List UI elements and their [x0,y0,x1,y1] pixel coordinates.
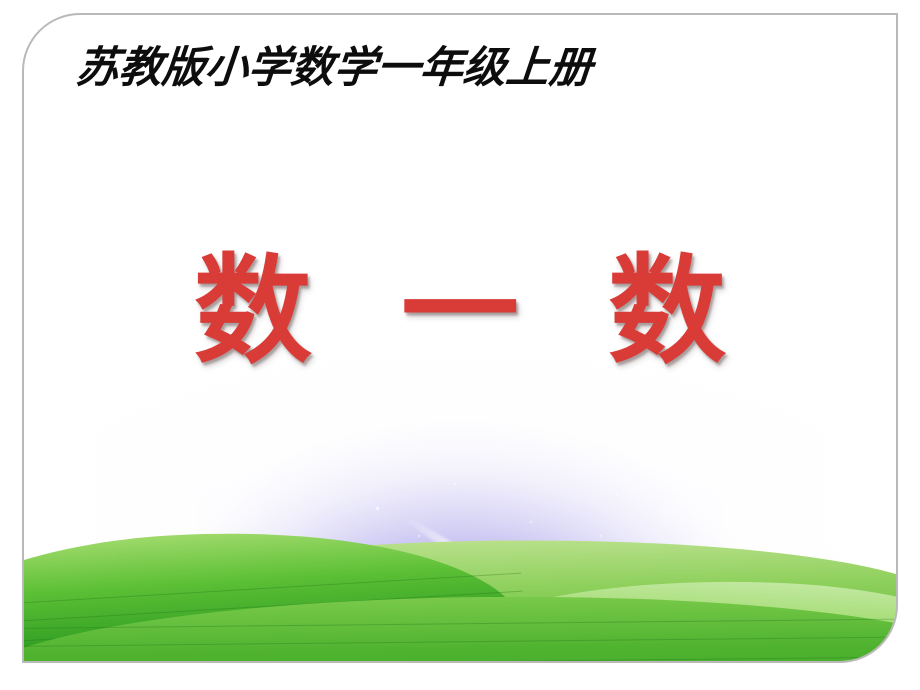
slide-subtitle-textbook-info: 苏教版小学数学一年级上册 [74,44,594,92]
sparkle-icon [616,493,618,495]
sparkle-icon [530,521,532,523]
sparkle-icon [376,507,379,510]
page-title: 数 一 数 [0,248,920,375]
presentation-slide: 苏教版小学数学一年级上册 数 一 数 [0,0,920,690]
sparkle-icon [418,535,420,537]
sparkle-icon [600,535,602,537]
sparkle-icon [454,483,456,485]
